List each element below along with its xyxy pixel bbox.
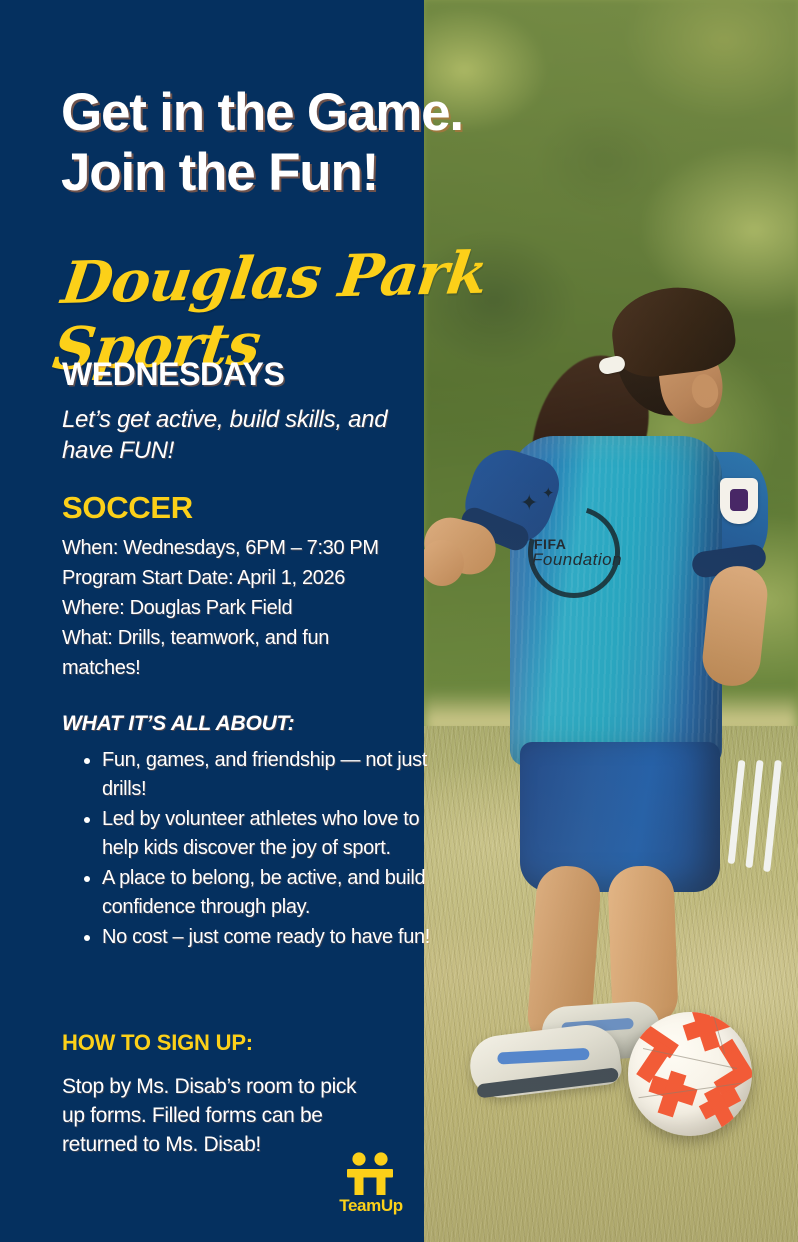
sport-heading: SOCCER [62,490,193,526]
list-item: No cost – just come ready to have fun! [102,923,432,952]
about-bullet-list: Fun, games, and friendship — not just dr… [78,746,432,953]
list-item: Fun, games, and friendship — not just dr… [102,746,432,804]
teamup-logo-label: TeamUp [336,1196,406,1216]
detail-when: When: Wednesdays, 6PM – 7:30 PM [62,533,412,563]
list-item: Led by volunteer athletes who love to he… [102,805,432,863]
signup-instructions: Stop by Ms. Disab’s room to pick up form… [62,1072,382,1159]
teamup-logo: TeamUp [338,1152,402,1224]
detail-what: What: Drills, teamwork, and fun matches! [62,623,412,683]
headline-line-1: Get in the Game. [61,83,581,143]
signup-heading: HOW TO SIGN UP: [62,1030,253,1056]
poster: ✦ ✦ FIFA Foundation Get in the Gam [0,0,798,1242]
two-people-icon [338,1152,402,1196]
detail-where: Where: Douglas Park Field [62,593,412,623]
detail-start-date: Program Start Date: April 1, 2026 [62,563,412,593]
weekday-heading: WEDNESDAYS [62,356,284,393]
headline-line-2: Join the Fun! [61,143,581,203]
sport-details: When: Wednesdays, 6PM – 7:30 PM Program … [62,533,412,683]
poster-content: Get in the Game. Join the Fun! Douglas P… [0,0,798,1242]
tagline: Let’s get active, build skills, and have… [62,404,392,466]
list-item: A place to belong, be active, and build … [102,864,432,922]
about-heading: WHAT IT’S ALL ABOUT: [62,712,294,736]
page-title: Get in the Game. Join the Fun! [61,83,581,203]
